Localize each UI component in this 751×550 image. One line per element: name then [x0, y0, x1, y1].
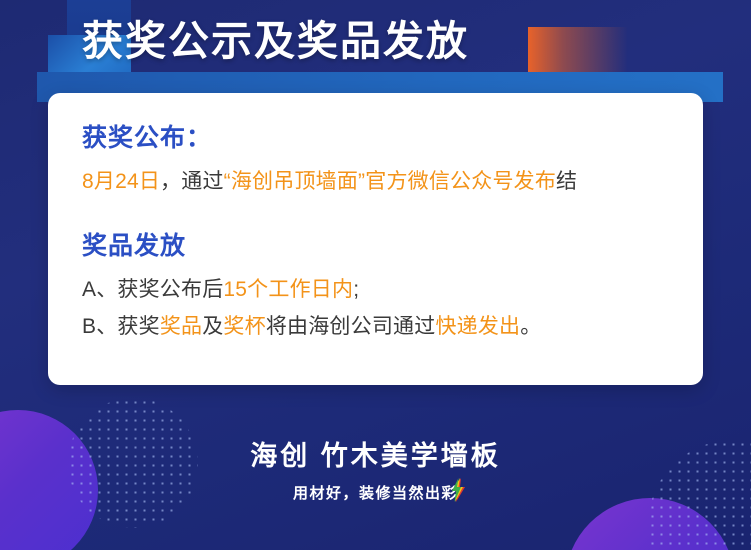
poster-canvas: 获奖公示及奖品发放 获奖公布： 8月24日，通过“海创吊顶墙面”官方微信公众号发…	[0, 0, 751, 550]
announcement-seg-1: ，通过	[160, 170, 224, 193]
prize-a-seg-0: A、获奖公布后	[82, 278, 223, 301]
brand-slogan-wrapper: 用材好，装修当然出彩	[293, 482, 458, 503]
prize-b-seg-2: 及	[202, 315, 223, 338]
prize-b-seg-5: 快递发出	[435, 315, 520, 338]
announcement-seg-2: “海创吊顶墙面”官方微信公众号发布	[224, 170, 556, 193]
brand-name: 海创 竹木美学墙板	[0, 440, 751, 474]
prize-b-seg-0: B、获奖	[82, 315, 160, 338]
prize-line-b: B、获奖奖品及奖杯将由海创公司通过快递发出。	[82, 311, 669, 343]
section-heading-prize-delivery: 奖品发放	[82, 231, 669, 261]
lightning-bolt-icon	[452, 478, 466, 502]
prize-b-seg-1: 奖品	[160, 315, 202, 338]
prize-line-a: A、获奖公布后15个工作日内;	[82, 274, 669, 306]
prize-b-seg-4: 将由海创公司通过	[266, 315, 436, 338]
prize-b-seg-3: 奖杯	[223, 315, 265, 338]
section-heading-announcement: 获奖公布：	[82, 123, 669, 153]
announcement-line: 8月24日，通过“海创吊顶墙面”官方微信公众号发布结	[82, 166, 669, 198]
footer-brand: 海创 竹木美学墙板 用材好，装修当然出彩	[0, 440, 751, 503]
announcement-seg-0: 8月24日	[82, 170, 160, 193]
header-decor-orange-gradient	[528, 27, 628, 73]
page-title: 获奖公示及奖品发放	[82, 14, 469, 69]
prize-b-seg-6: 。	[520, 315, 541, 338]
prize-a-seg-2: ;	[353, 278, 359, 301]
content-card-inner: 获奖公布： 8月24日，通过“海创吊顶墙面”官方微信公众号发布结 奖品发放 A、…	[48, 93, 703, 343]
announcement-seg-3: 结	[556, 170, 577, 193]
brand-slogan: 用材好，装修当然出彩	[293, 485, 458, 502]
content-card: 获奖公布： 8月24日，通过“海创吊顶墙面”官方微信公众号发布结 奖品发放 A、…	[48, 93, 703, 385]
prize-a-seg-1: 15个工作日内	[223, 278, 353, 301]
